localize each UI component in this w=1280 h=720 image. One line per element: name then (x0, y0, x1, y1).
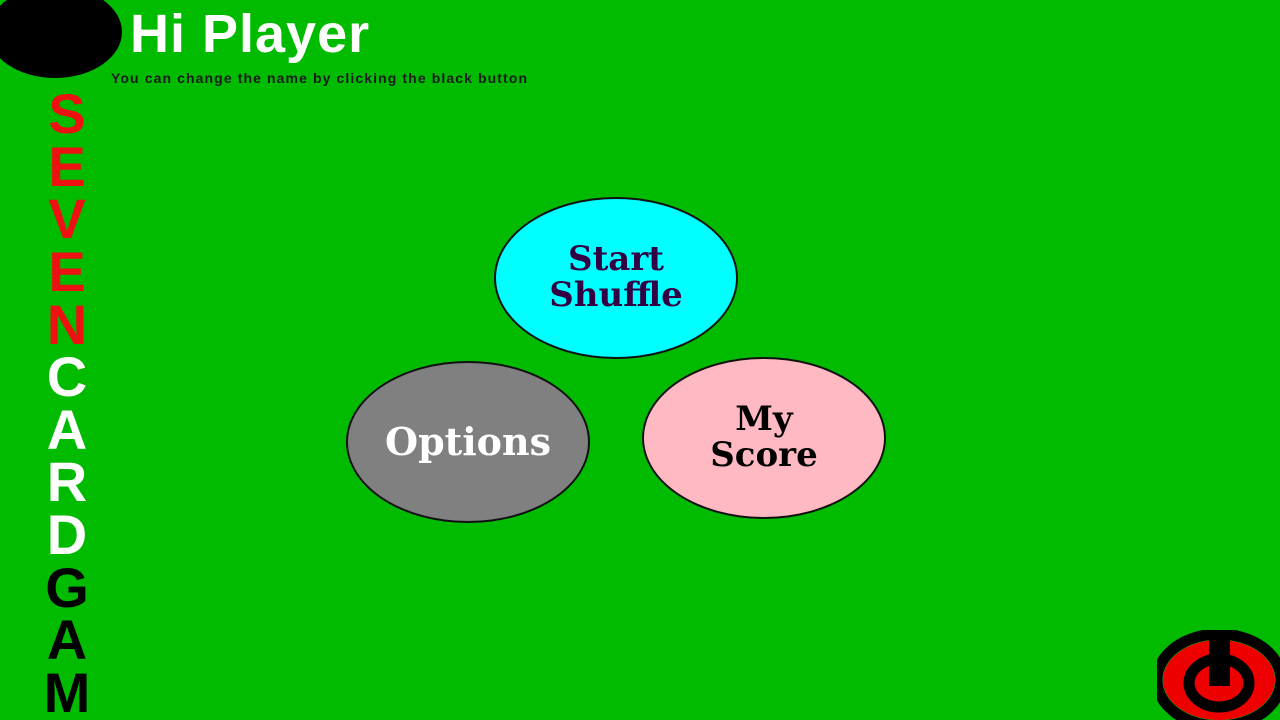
title-letter: N (47, 299, 87, 352)
title-letter: A (47, 404, 87, 457)
title-letter: M (44, 667, 91, 720)
start-shuffle-button[interactable]: Start Shuffle (494, 197, 738, 359)
game-main-menu-screen: Hi Player You can change the name by cli… (0, 0, 1280, 720)
power-icon (1157, 630, 1280, 720)
change-name-button[interactable] (0, 0, 122, 78)
my-score-button[interactable]: My Score (642, 357, 886, 519)
my-score-label: My Score (710, 402, 817, 473)
exit-button[interactable] (1157, 630, 1280, 720)
title-letter: G (45, 562, 89, 615)
change-name-hint: You can change the name by clicking the … (111, 70, 528, 86)
game-title-vertical: S E V E N C A R D G A M E (36, 88, 98, 720)
title-letter: R (47, 456, 87, 509)
title-letter: C (47, 351, 87, 404)
options-label: Options (385, 422, 551, 462)
title-letter: D (47, 509, 87, 562)
greeting-text: Hi Player (130, 3, 370, 65)
title-letter: A (47, 614, 87, 667)
title-letter: E (48, 246, 85, 299)
title-letter: S (48, 88, 85, 141)
title-letter: V (48, 193, 85, 246)
start-shuffle-label: Start Shuffle (549, 242, 683, 313)
options-button[interactable]: Options (346, 361, 590, 523)
title-letter: E (48, 141, 85, 194)
